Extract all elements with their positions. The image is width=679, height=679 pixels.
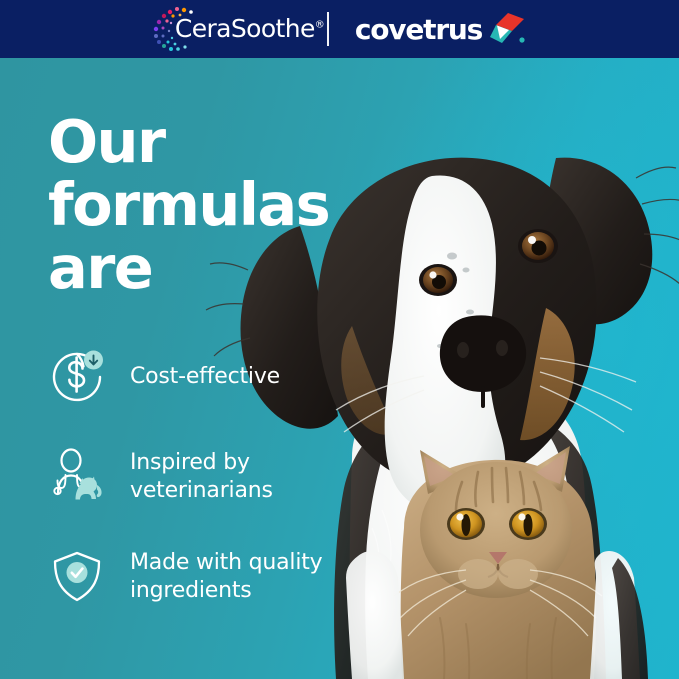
product-hero-banner: CeraSoothe® covetrus Our formulas are [0,0,679,679]
feature-list: Cost-effective [46,346,376,646]
feature-item-cost-effective: Cost-effective [46,346,376,408]
feature-label: Made with quality ingredients [130,549,322,605]
registered-mark: ® [315,20,324,31]
veterinarian-with-cat-icon [46,446,108,508]
hero-content: Our formulas are Cost-eff [0,58,380,679]
feature-item-inspired-by-veterinarians: Inspired by veterinarians [46,446,376,508]
covetrus-logo: covetrus [355,11,528,47]
feature-label: Cost-effective [130,363,280,391]
cerasoothe-logo: CeraSoothe® [151,6,301,52]
feature-label-line-1: Cost-effective [130,364,280,389]
covetrus-diamond-icon [488,11,528,47]
feature-label-line-1: Inspired by [130,450,250,475]
feature-label: Inspired by veterinarians [130,449,273,505]
brand-header: CeraSoothe® covetrus [0,0,679,58]
headline-line-1: Our [48,110,358,173]
logo-divider [327,12,329,46]
feature-label-line-2: ingredients [130,577,322,605]
page-title: Our formulas are [48,110,358,299]
headline-line-2: formulas [48,173,358,236]
feature-label-line-1: Made with quality [130,550,322,575]
covetrus-wordmark: covetrus [355,13,482,46]
cerasoothe-wordmark: CeraSoothe® [175,14,324,43]
dollar-circle-down-arrow-icon [46,346,108,408]
shield-check-icon [46,546,108,608]
headline-line-3: are [48,236,358,299]
feature-label-line-2: veterinarians [130,477,273,505]
feature-item-made-with-quality-ingredients: Made with quality ingredients [46,546,376,608]
